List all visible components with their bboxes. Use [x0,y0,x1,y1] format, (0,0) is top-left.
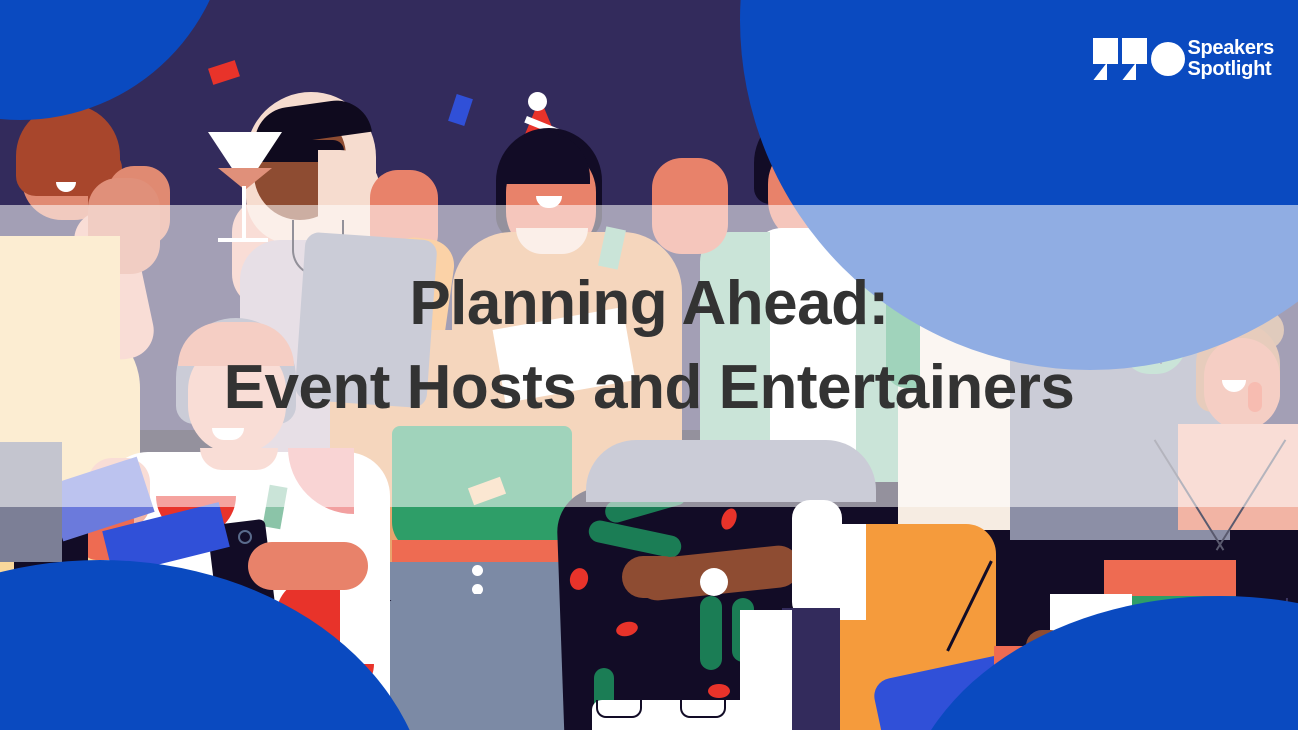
pocket-1 [596,700,642,718]
jacket-dot-red-5 [708,684,730,698]
quote-mark-icon-1 [1093,38,1118,80]
phone-camera [238,530,252,544]
person-12-forearm [248,542,368,590]
jacket-green-3 [700,596,722,670]
person-6-button-1 [472,565,483,576]
banner-title: Planning Ahead: Event Hosts and Entertai… [0,262,1298,430]
logo-mark-icon [1093,36,1178,82]
person-14-white-sleeve [792,500,842,620]
party-hat-pom [528,92,547,111]
title-line-1: Planning Ahead: [0,262,1298,346]
confetti-red [208,60,240,85]
speakers-spotlight-logo[interactable]: Speakers Spotlight [1093,36,1274,82]
person-6-jeans [382,594,588,730]
person-13-hand [622,556,684,598]
logo-circle-icon [1151,42,1185,76]
confetti-blue [448,94,473,126]
logo-wordmark-line-2: Spotlight [1187,59,1274,80]
wristwatch [700,568,728,596]
logo-wordmark: Speakers Spotlight [1187,38,1274,80]
event-banner: Planning Ahead: Event Hosts and Entertai… [0,0,1298,730]
quote-mark-icon-2 [1122,38,1147,80]
title-line-2: Event Hosts and Entertainers [0,346,1298,430]
logo-wordmark-line-1: Speakers [1187,38,1274,59]
person-17-white-pants [740,610,792,730]
pocket-2 [680,700,726,718]
